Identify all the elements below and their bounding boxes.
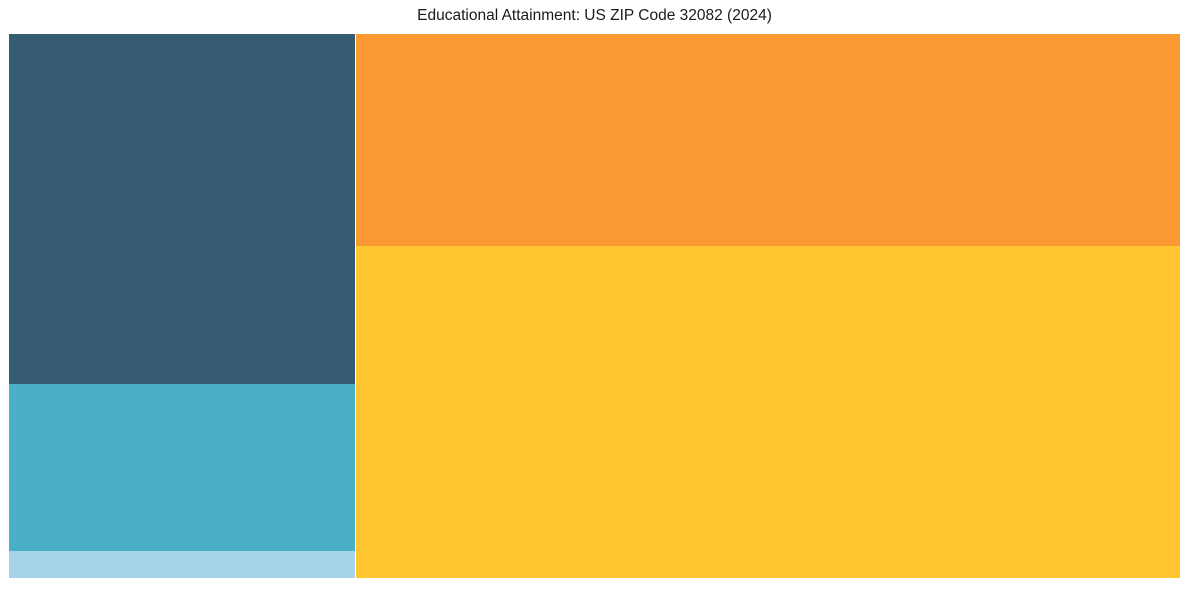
- treemap-tile[interactable]: High school graduate: [9, 384, 355, 551]
- treemap-tile[interactable]: Less than high school: [9, 551, 355, 578]
- treemap-tile[interactable]: Bachelor's degree: [356, 246, 1180, 578]
- treemap-tile[interactable]: Graduate or professional degree: [356, 34, 1180, 246]
- chart-title: Educational Attainment: US ZIP Code 3208…: [0, 6, 1189, 25]
- treemap-figure: Educational Attainment: US ZIP Code 3208…: [0, 0, 1189, 590]
- treemap-plot-area: Bachelor's degreeGraduate or professiona…: [9, 34, 1180, 578]
- treemap-tile[interactable]: Some college or associate's degree: [9, 34, 355, 384]
